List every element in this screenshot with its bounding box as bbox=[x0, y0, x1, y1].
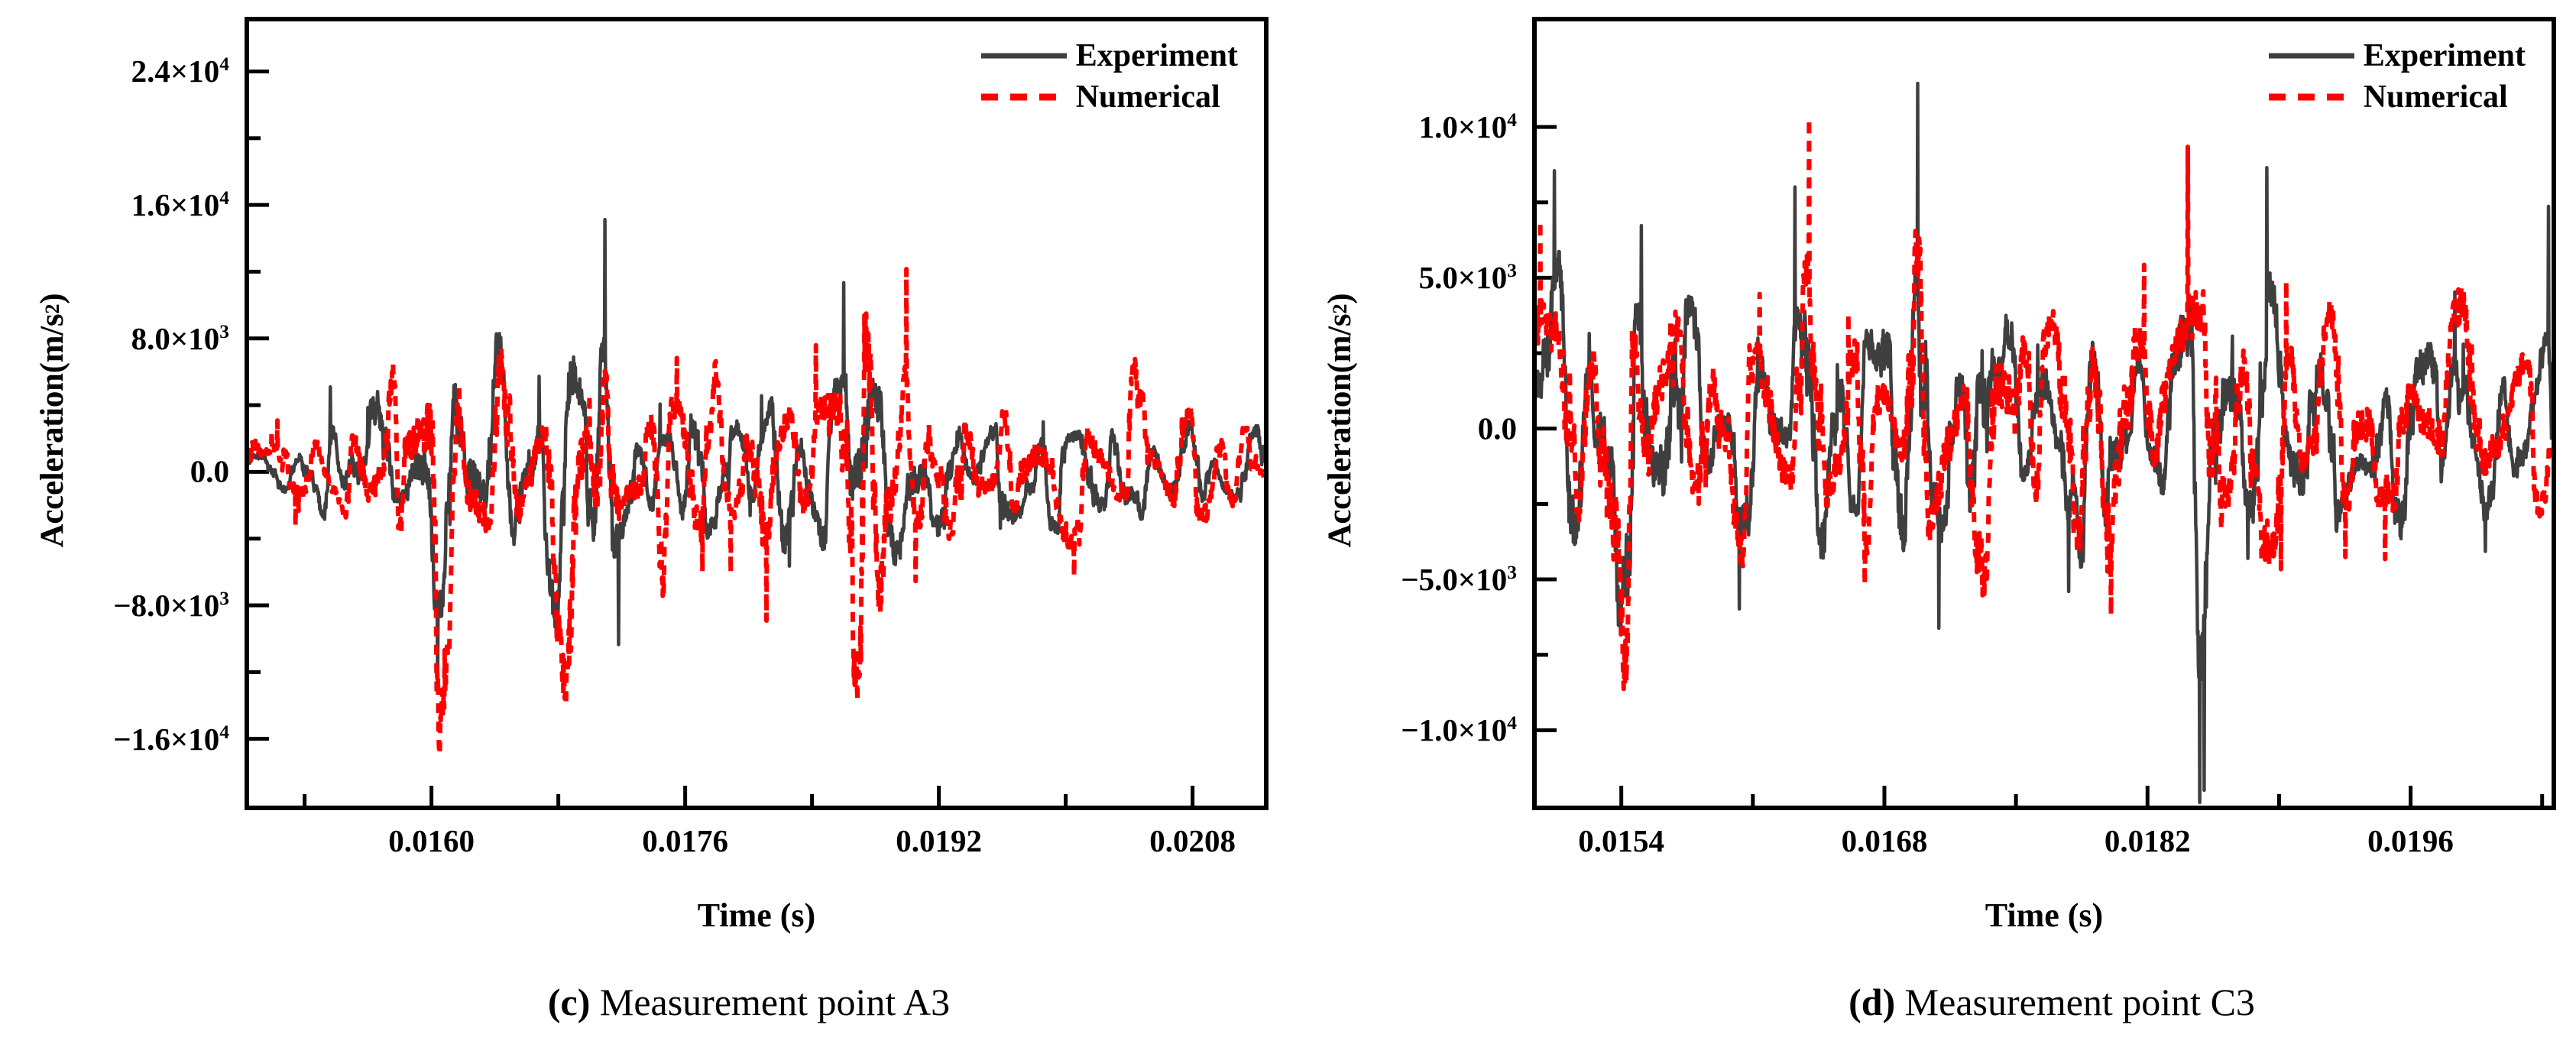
panel-caption-d: (d) Measurement point C3 bbox=[1849, 980, 2255, 1024]
panel-d: Acceleration(m/s2) 1.0×1045.0×1030.0−5.0… bbox=[1288, 0, 2575, 1054]
panel-caption-text-d: Measurement point C3 bbox=[1895, 981, 2255, 1023]
legend-c: ExperimentNumerical bbox=[980, 40, 1238, 113]
x-tick-labels-c: 0.01600.01760.01920.0208 bbox=[0, 0, 1288, 1054]
legend-label-experiment: Experiment bbox=[2364, 40, 2526, 72]
legend-item-experiment[interactable]: Experiment bbox=[2267, 40, 2526, 72]
x-axis-title-c: Time (s) bbox=[698, 896, 815, 935]
panel-caption-c: (c) Measurement point A3 bbox=[548, 980, 950, 1024]
x-tick-label: 0.0208 bbox=[1149, 822, 1236, 859]
figure-root: Acceleration(m/s2) 2.4×1041.6×1048.0×103… bbox=[0, 0, 2576, 1054]
panel-caption-text-c: Measurement point A3 bbox=[590, 981, 950, 1023]
legend-label-numerical: Numerical bbox=[2364, 81, 2508, 113]
x-tick-label: 0.0176 bbox=[642, 822, 728, 859]
legend-key-experiment-icon bbox=[2267, 46, 2356, 66]
legend-item-numerical[interactable]: Numerical bbox=[2267, 81, 2526, 113]
panel-caption-tag-c: (c) bbox=[548, 981, 591, 1023]
legend-item-numerical[interactable]: Numerical bbox=[980, 81, 1238, 113]
x-tick-label: 0.0154 bbox=[1578, 822, 1664, 859]
legend-key-experiment-icon bbox=[980, 46, 1068, 66]
x-tick-labels-d: 0.01540.01680.01820.0196 bbox=[1288, 0, 2575, 1054]
panel-caption-tag-d: (d) bbox=[1849, 981, 1895, 1023]
legend-label-experiment: Experiment bbox=[1076, 40, 1238, 72]
legend-item-experiment[interactable]: Experiment bbox=[980, 40, 1238, 72]
legend-label-numerical: Numerical bbox=[1076, 81, 1220, 113]
panel-c: Acceleration(m/s2) 2.4×1041.6×1048.0×103… bbox=[0, 0, 1288, 1054]
x-tick-label: 0.0196 bbox=[2367, 822, 2454, 859]
x-tick-label: 0.0192 bbox=[896, 822, 982, 859]
legend-key-numerical-icon bbox=[2267, 87, 2356, 107]
x-tick-label: 0.0182 bbox=[2105, 822, 2191, 859]
x-tick-label: 0.0168 bbox=[1842, 822, 1928, 859]
x-axis-title-d: Time (s) bbox=[1985, 896, 2103, 935]
legend-d: ExperimentNumerical bbox=[2267, 40, 2526, 113]
x-tick-label: 0.0160 bbox=[388, 822, 475, 859]
legend-key-numerical-icon bbox=[980, 87, 1068, 107]
